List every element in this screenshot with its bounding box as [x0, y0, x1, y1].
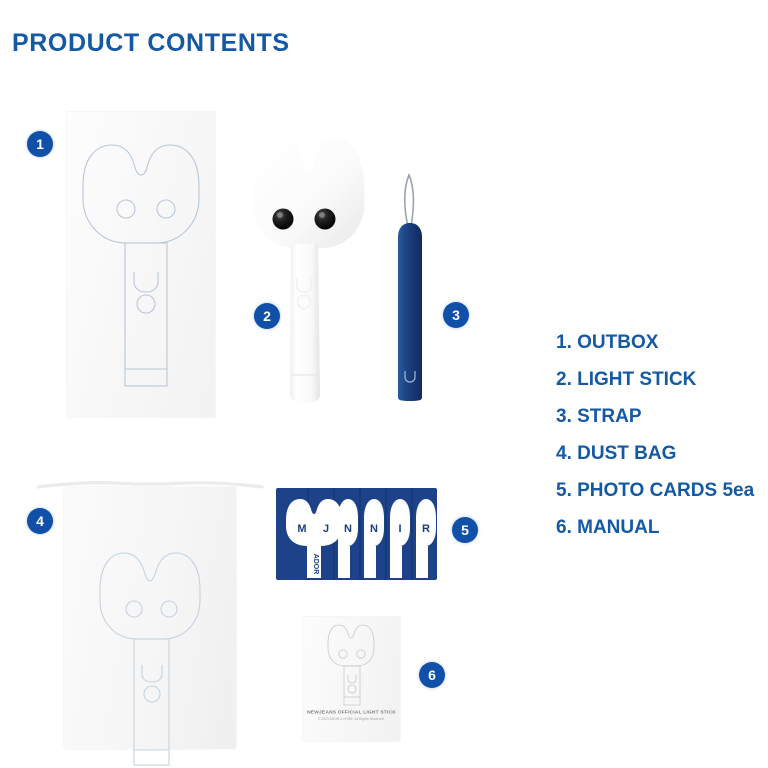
dust-bag-lightstick-lineart	[64, 487, 236, 749]
photo-cards-set: ADOR M J N N I R	[276, 488, 437, 580]
badge-2-light-stick[interactable]: 2	[254, 303, 280, 329]
photo-cards-illustration: ADOR M J N N I R	[276, 488, 437, 580]
svg-text:N: N	[370, 523, 378, 535]
svg-text:M: M	[297, 523, 306, 535]
svg-text:I: I	[398, 523, 401, 535]
legend-item-photo-cards: 5. PHOTO CARDS 5ea	[556, 481, 766, 500]
legend-item-light-stick: 2. LIGHT STICK	[556, 370, 766, 389]
product-contents-infographic: PRODUCT CONTENTS 1	[0, 0, 768, 768]
manual-lightstick-lineart	[303, 617, 400, 709]
photo-card-handle-text: ADOR	[312, 554, 319, 575]
badge-5-photo-cards[interactable]: 5	[452, 517, 478, 543]
badge-6-manual[interactable]: 6	[419, 662, 445, 688]
outbox-package	[67, 112, 215, 417]
badge-3-strap[interactable]: 3	[443, 302, 469, 328]
page-title: PRODUCT CONTENTS	[12, 29, 290, 58]
legend-item-strap: 3. STRAP	[556, 407, 766, 426]
legend-item-outbox: 1. OUTBOX	[556, 333, 766, 352]
badge-1-outbox[interactable]: 1	[27, 131, 53, 157]
svg-text:N: N	[344, 523, 352, 535]
manual-caption: NEWJEANS OFFICIAL LIGHT STICK	[286, 709, 417, 714]
legend-item-manual: 6. MANUAL	[556, 518, 766, 537]
light-stick-product	[245, 132, 363, 410]
strap-illustration	[391, 165, 433, 403]
badge-4-dust-bag[interactable]: 4	[27, 508, 53, 534]
outbox-lightstick-lineart	[67, 112, 215, 417]
svg-text:J: J	[323, 523, 329, 535]
manual-booklet: NEWJEANS OFFICIAL LIGHT STICK © 2023 ADO…	[303, 617, 400, 741]
light-stick-3d	[245, 132, 363, 410]
contents-legend-list: 1. OUTBOX 2. LIGHT STICK 3. STRAP 4. DUS…	[556, 333, 766, 555]
wrist-strap-product	[391, 165, 433, 403]
legend-item-dust-bag: 4. DUST BAG	[556, 444, 766, 463]
manual-subcaption: © 2023 ADOR & HYBE. All Rights Reserved.	[288, 718, 414, 722]
dust-bag-pouch	[64, 487, 236, 749]
svg-text:R: R	[422, 523, 430, 535]
